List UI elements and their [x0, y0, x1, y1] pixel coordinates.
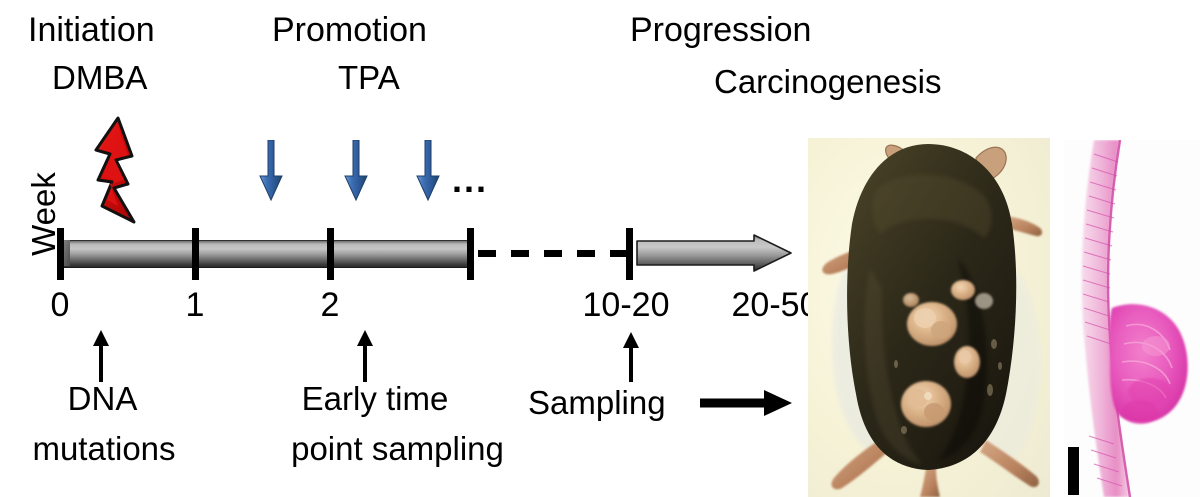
lightning-bolt-icon: [88, 116, 150, 228]
stage-agent-dmba: DMBA: [52, 58, 147, 98]
callout-arrow-sampling: [622, 332, 640, 382]
callout-label-point-sampling: point sampling: [270, 428, 525, 470]
histology-photo-panel: [1064, 140, 1200, 497]
tpa-continues-ellipsis: ...: [452, 162, 488, 198]
stage-agent-tpa: TPA: [338, 58, 400, 98]
callout-label-dna: DNA: [20, 378, 185, 420]
axis-tick-label-0: 0: [30, 286, 90, 324]
progression-arrow: [636, 234, 792, 272]
tpa-treatment-arrow-2: [343, 140, 369, 202]
tpa-treatment-arrow-3: [415, 140, 441, 202]
histology-scale-bar: [1068, 447, 1079, 495]
axis-tick-label-10-20: 10-20: [551, 286, 701, 324]
callout-label-mutations: mutations: [14, 428, 194, 470]
timeline-tick-week-2: [327, 228, 334, 280]
stage-title-progression: Progression: [630, 10, 811, 50]
timeline-bar: [60, 240, 472, 268]
callout-arrow-dna-mutations: [92, 330, 110, 382]
callout-label-early-time: Early time: [285, 378, 465, 420]
sampling-to-photo-arrow: [700, 390, 792, 416]
timeline-tick-week-end-promotion: [467, 228, 474, 280]
stage-agent-carcinogenesis: Carcinogenesis: [714, 62, 941, 102]
mouse-photo-panel: [808, 138, 1050, 497]
stage-title-initiation: Initiation: [28, 10, 155, 50]
stage-title-promotion: Promotion: [272, 10, 427, 50]
tpa-treatment-arrow-1: [258, 140, 284, 202]
timeline-tick-week-0: [57, 228, 64, 280]
timeline-dashed-gap: [478, 250, 628, 257]
callout-arrow-early-time-point-sampling: [356, 330, 374, 382]
callout-label-sampling: Sampling: [528, 382, 728, 424]
axis-tick-label-1: 1: [165, 286, 225, 324]
timeline-tick-week-1: [192, 228, 199, 280]
carcinogenesis-timeline-figure: Initiation DMBA Promotion TPA Progressio…: [0, 0, 1200, 497]
axis-tick-label-2: 2: [300, 286, 360, 324]
